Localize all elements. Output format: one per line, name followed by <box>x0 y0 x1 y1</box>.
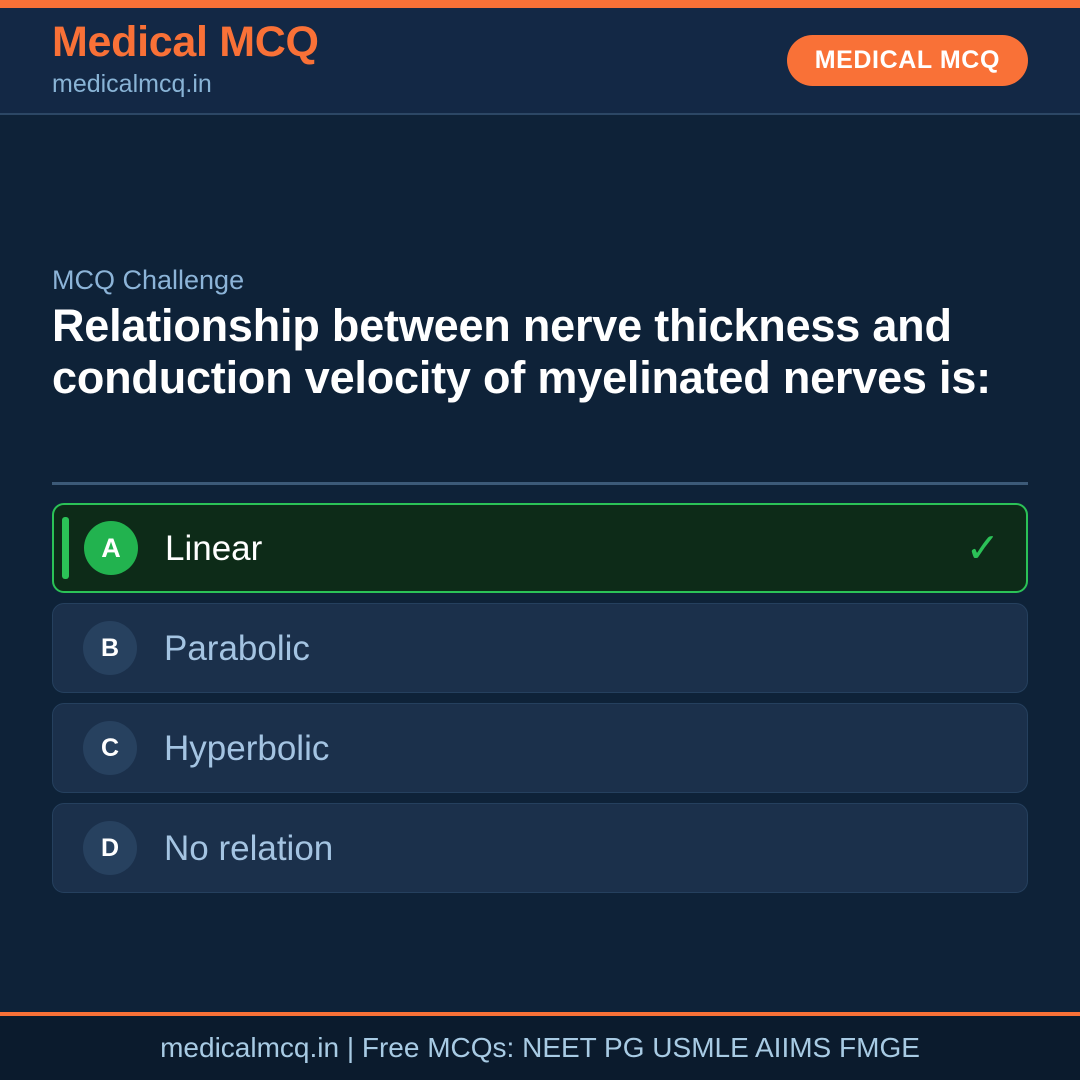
question-divider <box>52 482 1028 485</box>
option-c-letter-badge: C <box>83 721 137 775</box>
main-content: MCQ Challenge Relationship between nerve… <box>0 115 1080 1012</box>
header: Medical MCQ medicalmcq.in MEDICAL MCQ <box>0 8 1080 115</box>
header-badge: MEDICAL MCQ <box>787 35 1028 86</box>
footer: medicalmcq.in | Free MCQs: NEET PG USMLE… <box>0 1012 1080 1080</box>
option-a[interactable]: A Linear ✓ <box>52 503 1028 593</box>
option-b-letter-badge: B <box>83 621 137 675</box>
check-icon: ✓ <box>966 528 1000 569</box>
brand: Medical MCQ medicalmcq.in <box>52 21 319 100</box>
footer-text: medicalmcq.in | Free MCQs: NEET PG USMLE… <box>160 1034 920 1062</box>
brand-website: medicalmcq.in <box>52 68 319 101</box>
option-b-label: Parabolic <box>164 631 310 666</box>
option-a-letter-badge: A <box>84 521 138 575</box>
option-d-label: No relation <box>164 831 333 866</box>
question-text: Relationship between nerve thickness and… <box>52 300 1037 404</box>
options-list: A Linear ✓ B Parabolic C Hyperbolic D No… <box>52 503 1028 893</box>
option-a-label: Linear <box>165 531 262 566</box>
option-c-label: Hyperbolic <box>164 731 329 766</box>
correct-accent-bar <box>62 517 69 579</box>
mcq-card: Medical MCQ medicalmcq.in MEDICAL MCQ MC… <box>0 0 1080 1080</box>
brand-title: Medical MCQ <box>52 21 319 65</box>
top-accent-stripe <box>0 0 1080 8</box>
option-b[interactable]: B Parabolic <box>52 603 1028 693</box>
option-c[interactable]: C Hyperbolic <box>52 703 1028 793</box>
option-d-letter-badge: D <box>83 821 137 875</box>
section-eyebrow: MCQ Challenge <box>52 267 244 294</box>
option-d[interactable]: D No relation <box>52 803 1028 893</box>
